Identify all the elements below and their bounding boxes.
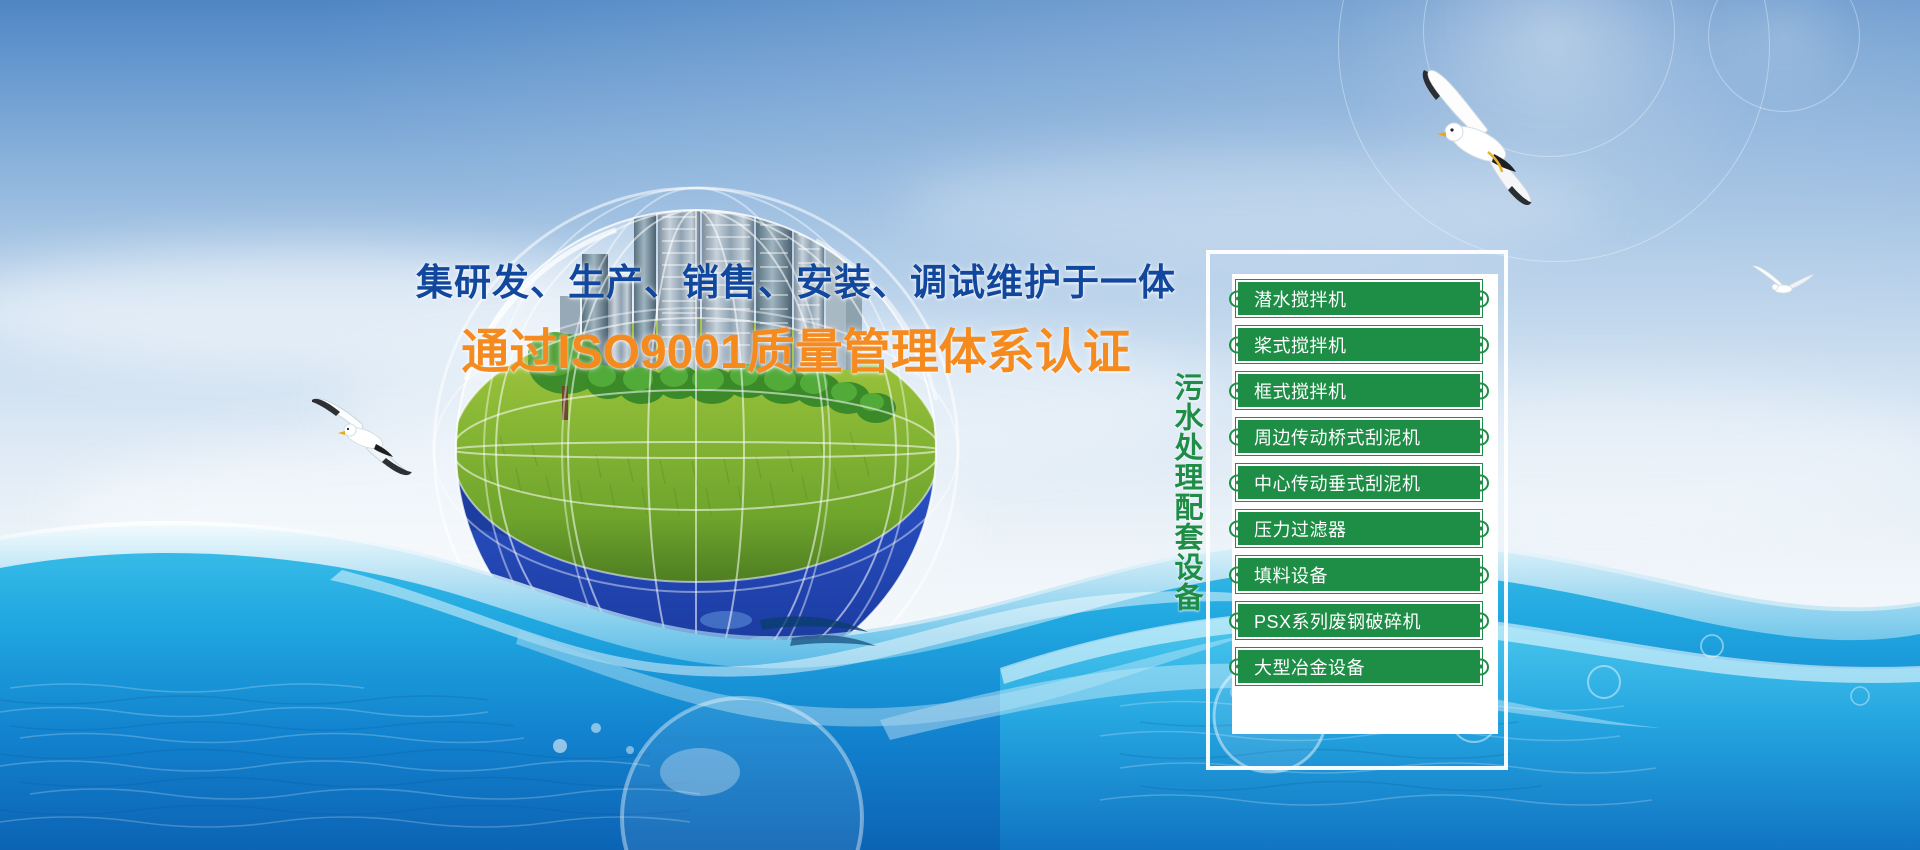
eyelet-icon <box>1472 612 1489 629</box>
eyelet-icon <box>1229 474 1246 491</box>
eyelet-icon <box>1472 520 1489 537</box>
product-button-yali-guolvqi[interactable]: 压力过滤器 <box>1236 510 1482 547</box>
product-button-label: 填料设备 <box>1254 562 1328 588</box>
eyelet-icon <box>1472 566 1489 583</box>
product-button-list: 潜水搅拌机 桨式搅拌机 框式搅拌机 周边传动桥式刮泥机 中心传动垂式刮泥 <box>1236 280 1482 685</box>
eyelet-icon <box>1229 382 1246 399</box>
product-button-label: 周边传动桥式刮泥机 <box>1254 424 1421 450</box>
product-button-qianshui-jiaobanji[interactable]: 潜水搅拌机 <box>1236 280 1482 317</box>
product-panel-vertical-label: 污水处理配套设备 <box>1160 372 1200 612</box>
product-button-label: 框式搅拌机 <box>1254 378 1347 404</box>
eyelet-icon <box>1229 658 1246 675</box>
eyelet-icon <box>1472 336 1489 353</box>
seagull-icon <box>1742 258 1822 313</box>
eyelet-icon <box>1229 566 1246 583</box>
seagull-icon <box>1384 52 1564 217</box>
eyelet-icon <box>1472 658 1489 675</box>
product-button-jiangshi-jiaobanji[interactable]: 桨式搅拌机 <box>1236 326 1482 363</box>
eyelet-icon <box>1472 474 1489 491</box>
eyelet-icon <box>1229 336 1246 353</box>
product-button-psx-feigang-posuiji[interactable]: PSX系列废钢破碎机 <box>1236 602 1482 639</box>
eyelet-icon <box>1472 382 1489 399</box>
banner-stage: 集研发、生产、销售、安装、调试维护于一体 通过ISO9001质量管理体系认证 <box>0 0 1920 850</box>
product-button-label: 大型冶金设备 <box>1254 654 1365 680</box>
product-button-label: 压力过滤器 <box>1254 516 1347 542</box>
eyelet-icon <box>1472 290 1489 307</box>
headline-secondary: 通过ISO9001质量管理体系认证 <box>386 312 1206 382</box>
product-button-label: 桨式搅拌机 <box>1254 332 1347 358</box>
product-button-daxing-yejin-shebei[interactable]: 大型冶金设备 <box>1236 648 1482 685</box>
eyelet-icon <box>1229 290 1246 307</box>
eyelet-icon <box>1229 612 1246 629</box>
water-wave-icon <box>0 420 1920 850</box>
product-button-label: PSX系列废钢破碎机 <box>1254 608 1421 634</box>
eyelet-icon <box>1229 520 1246 537</box>
product-button-tianliao-shebei[interactable]: 填料设备 <box>1236 556 1482 593</box>
headline-block: 集研发、生产、销售、安装、调试维护于一体 通过ISO9001质量管理体系认证 <box>386 252 1206 382</box>
eyelet-icon <box>1229 428 1246 445</box>
product-button-zhoubian-chuandong-qiaoshi-guanniji[interactable]: 周边传动桥式刮泥机 <box>1236 418 1482 455</box>
product-panel: 潜水搅拌机 桨式搅拌机 框式搅拌机 周边传动桥式刮泥机 中心传动垂式刮泥 <box>1206 250 1508 770</box>
product-button-kuangshi-jiaobanji[interactable]: 框式搅拌机 <box>1236 372 1482 409</box>
eyelet-icon <box>1472 428 1489 445</box>
product-button-label: 中心传动垂式刮泥机 <box>1254 470 1421 496</box>
product-button-zhongxin-chuandong-chuishi-guanniji[interactable]: 中心传动垂式刮泥机 <box>1236 464 1482 501</box>
product-button-label: 潜水搅拌机 <box>1254 286 1347 312</box>
headline-primary: 集研发、生产、销售、安装、调试维护于一体 <box>386 252 1206 306</box>
